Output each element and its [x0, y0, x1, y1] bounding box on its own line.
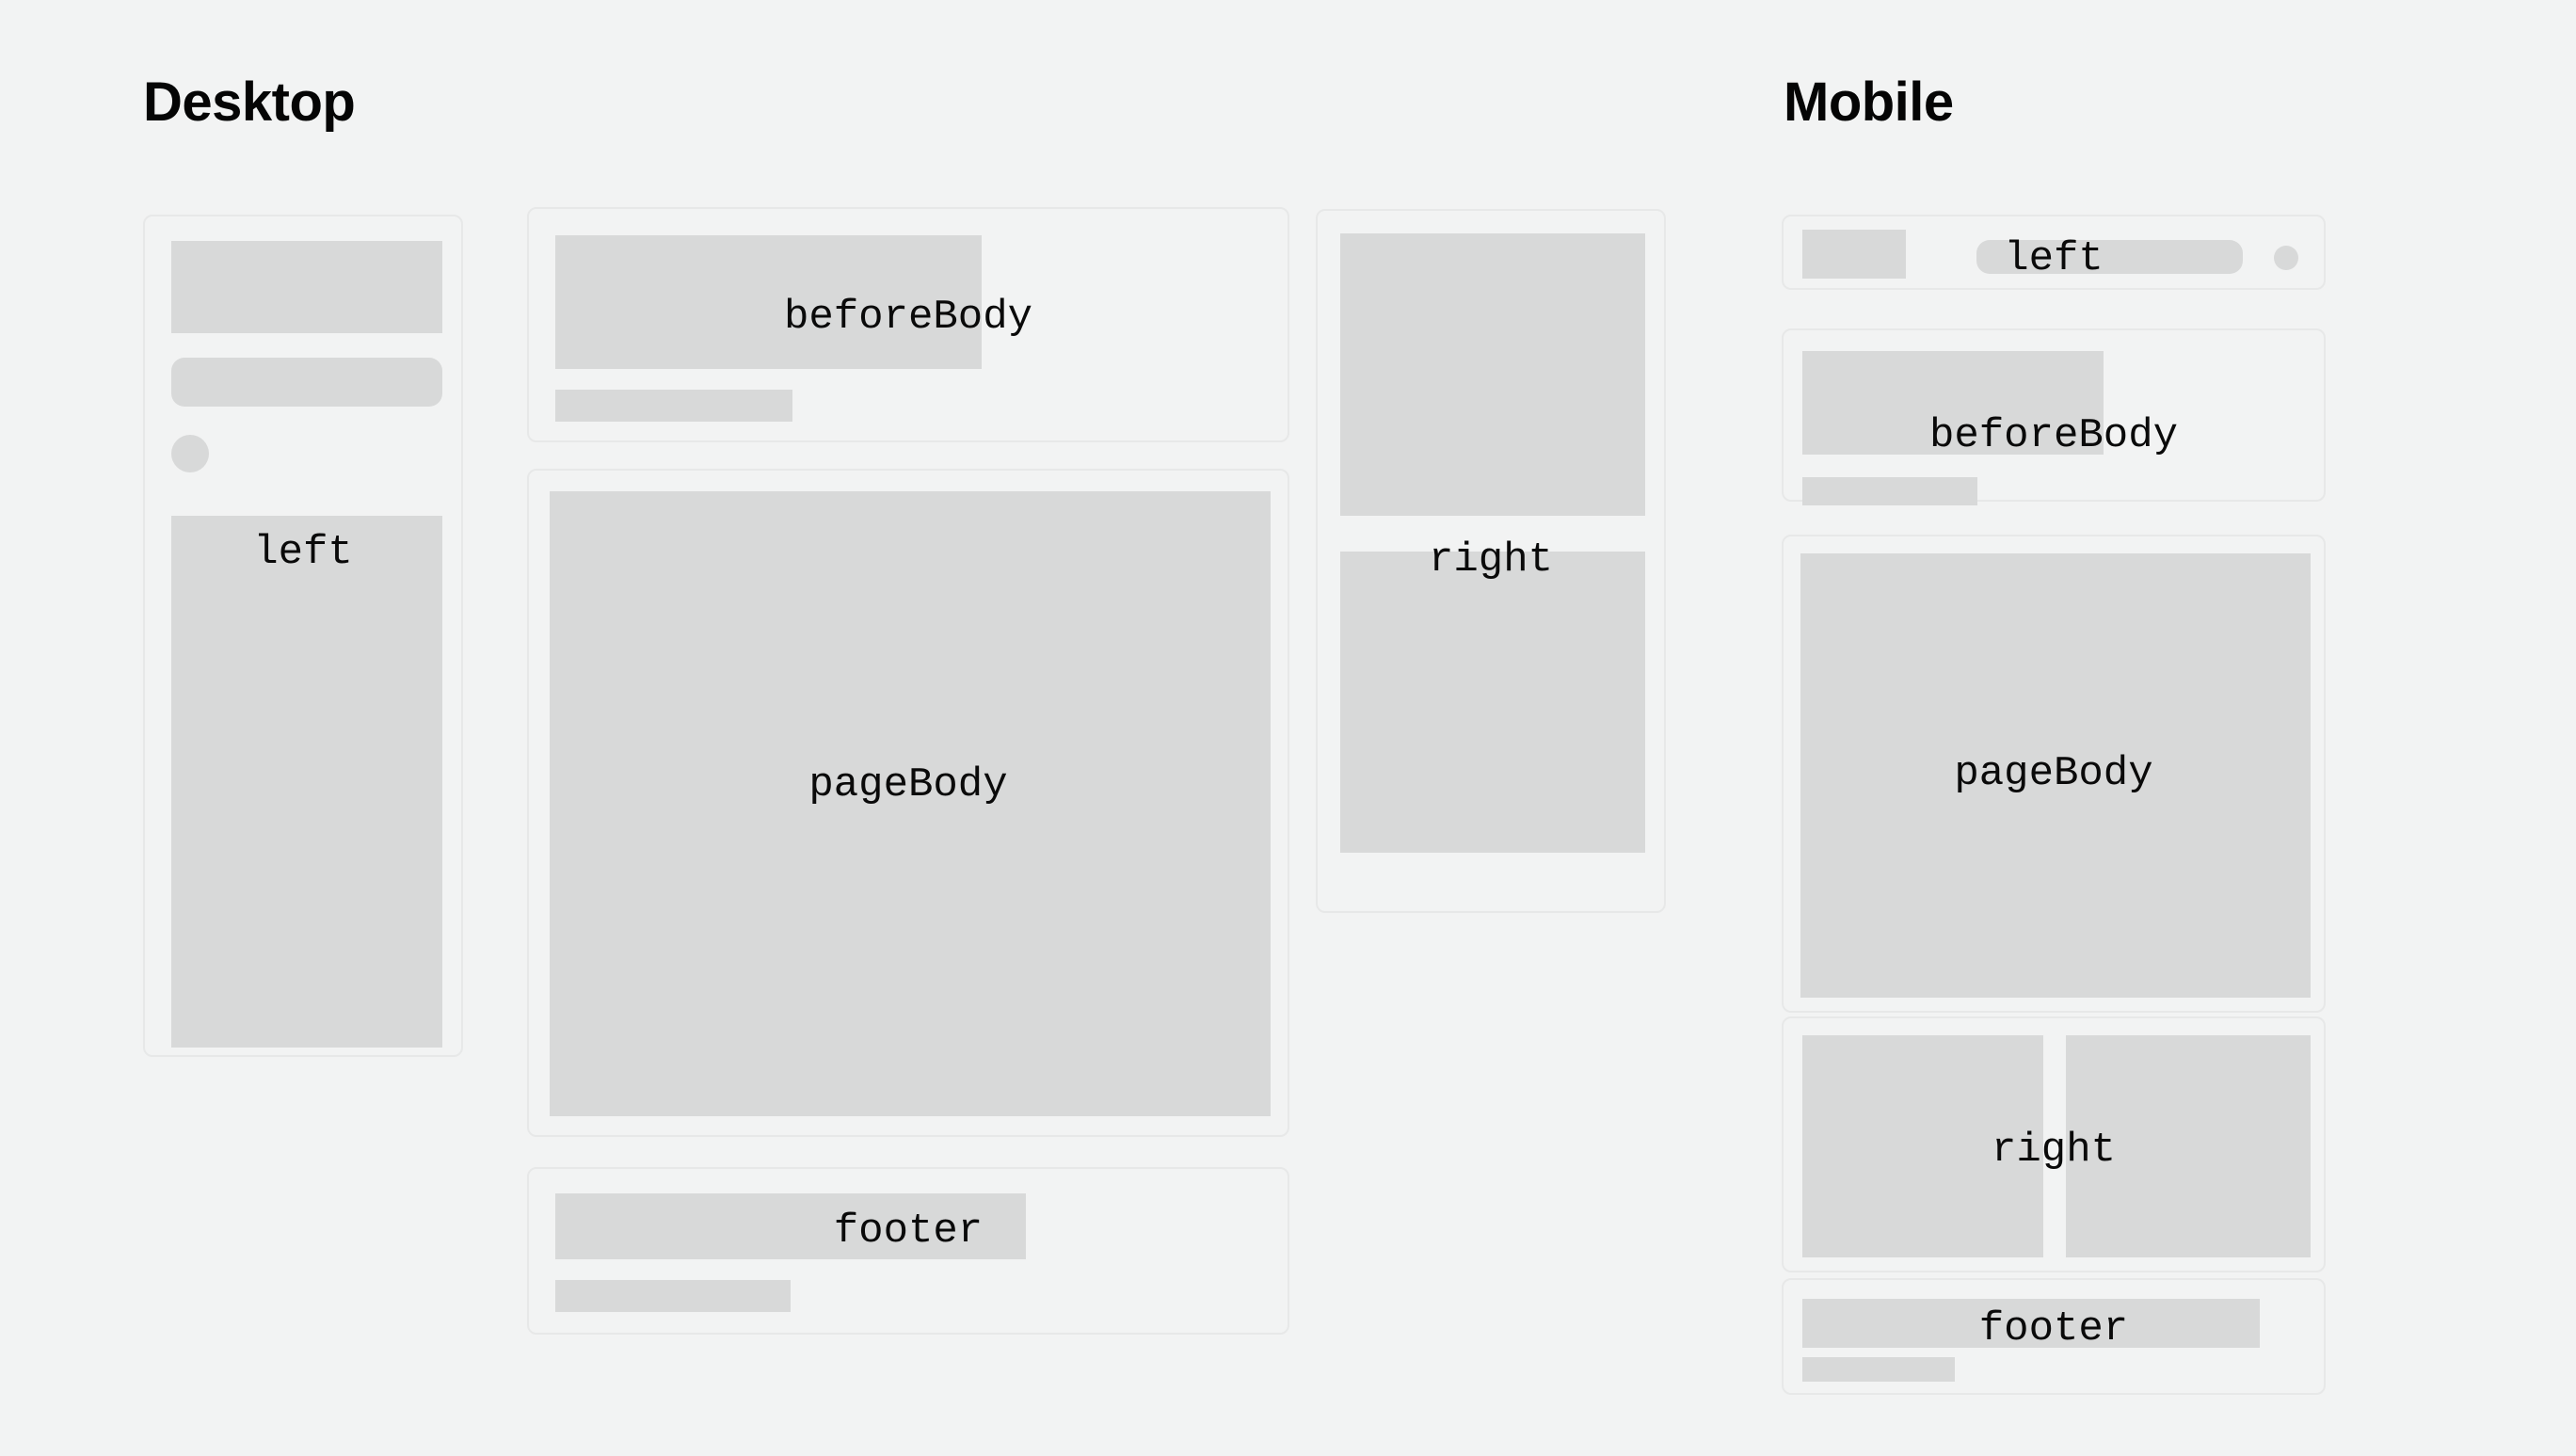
placeholder-block: [1802, 1035, 2043, 1257]
desktop-left-panel: [143, 215, 463, 1057]
placeholder-block: [555, 390, 792, 422]
mobile-left-panel: [1782, 215, 2326, 290]
placeholder-block: [1802, 477, 1977, 505]
placeholder-block: [2066, 1035, 2311, 1257]
placeholder-block: [1802, 230, 1906, 279]
desktop-footer-panel: [527, 1167, 1289, 1335]
placeholder-block: [1340, 552, 1645, 853]
placeholder-block: [1802, 1299, 2260, 1348]
mobile-beforebody-panel: [1782, 328, 2326, 502]
mobile-right-panel: [1782, 1016, 2326, 1272]
placeholder-block-rounded: [171, 358, 442, 407]
desktop-pagebody-panel: [527, 469, 1289, 1137]
placeholder-block: [555, 1193, 1026, 1259]
placeholder-block: [1802, 1357, 1955, 1382]
placeholder-block: [1800, 553, 2311, 998]
desktop-section-title: Desktop: [143, 75, 355, 130]
placeholder-block: [171, 241, 442, 333]
placeholder-block: [1340, 233, 1645, 516]
placeholder-block: [550, 491, 1271, 1116]
placeholder-block: [171, 516, 442, 1048]
placeholder-avatar-circle: [171, 435, 209, 472]
skeleton-layout-preview: Desktop left beforeBody pageBody footer …: [0, 0, 2576, 1456]
placeholder-block: [555, 1280, 791, 1312]
mobile-section-title: Mobile: [1784, 75, 1954, 130]
placeholder-avatar-circle: [2274, 246, 2298, 270]
mobile-footer-panel: [1782, 1278, 2326, 1395]
placeholder-block: [1802, 351, 2104, 455]
desktop-beforebody-panel: [527, 207, 1289, 442]
mobile-pagebody-panel: [1782, 535, 2326, 1013]
placeholder-block: [555, 235, 982, 369]
desktop-right-panel: [1316, 209, 1666, 913]
placeholder-block-rounded: [1976, 240, 2243, 274]
